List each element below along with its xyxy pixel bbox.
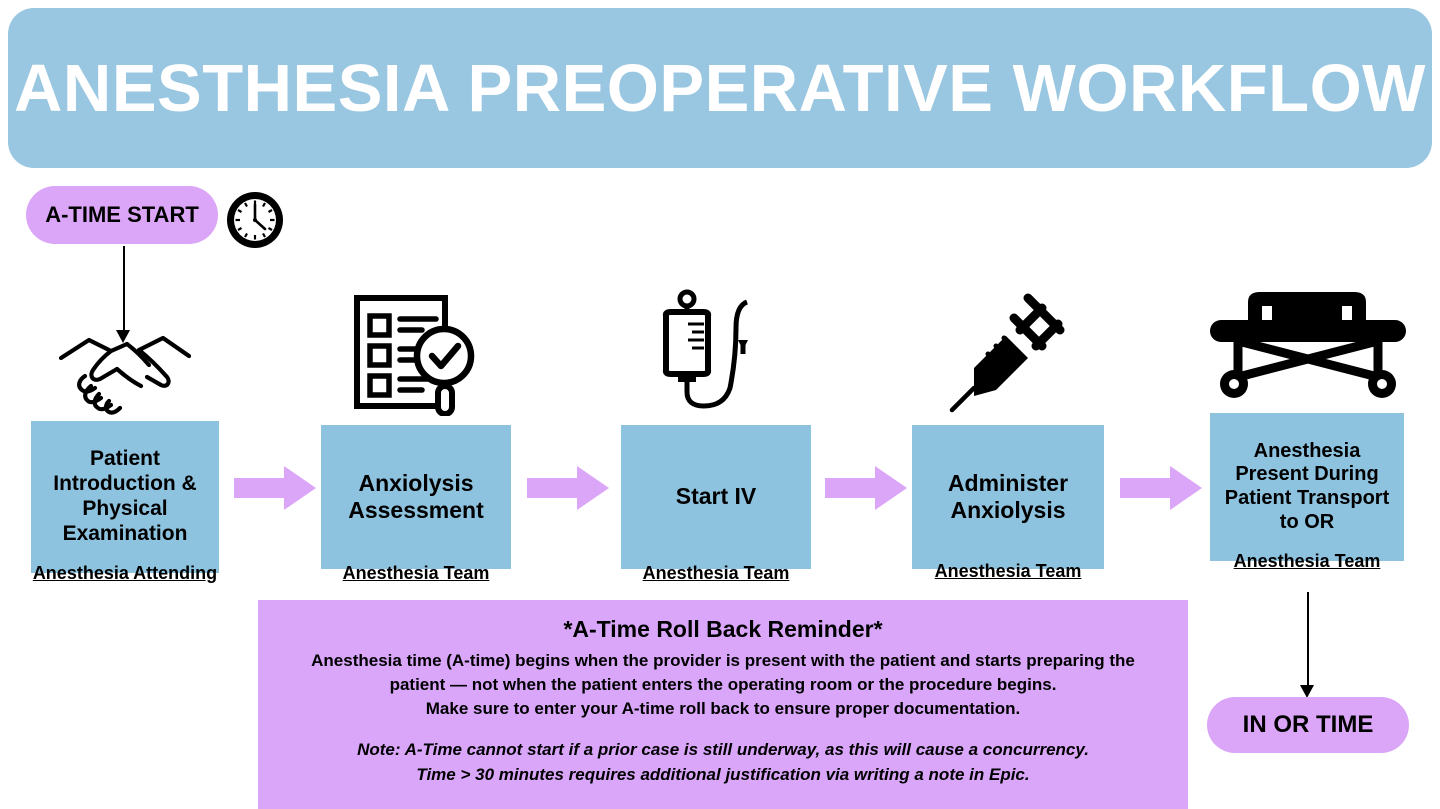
checklist-magnifier-icon: [348, 290, 488, 416]
step-box-2[interactable]: Anxiolysis Assessment: [321, 425, 511, 569]
clock-icon: [224, 189, 286, 251]
step-box-2-label: Anxiolysis Assessment: [327, 470, 505, 524]
step-owner-5: Anesthesia Team: [1210, 551, 1404, 572]
step-owner-2: Anesthesia Team: [321, 563, 511, 584]
step-box-1[interactable]: Patient Introduction & Physical Examinat…: [31, 421, 219, 573]
in-or-time-pill: IN OR TIME: [1207, 697, 1409, 753]
flow-arrow-3: [825, 466, 907, 510]
header-banner: ANESTHESIA PREOPERATIVE WORKFLOW: [8, 8, 1432, 168]
step-box-5[interactable]: Anesthesia Present During Patient Transp…: [1210, 413, 1404, 561]
reminder-panel: *A-Time Roll Back Reminder* Anesthesia t…: [258, 600, 1188, 809]
reminder-spacer: [276, 721, 1170, 738]
reminder-note-2: Time > 30 minutes requires additional ju…: [276, 763, 1170, 787]
flow-arrow-4: [1120, 466, 1202, 510]
step-box-4-label: Administer Anxiolysis: [918, 470, 1098, 524]
step-owner-4: Anesthesia Team: [912, 561, 1104, 582]
step-owner-3: Anesthesia Team: [621, 563, 811, 584]
reminder-note-1: Note: A-Time cannot start if a prior cas…: [276, 738, 1170, 762]
step-box-3-label: Start IV: [676, 483, 757, 510]
step-box-3[interactable]: Start IV: [621, 425, 811, 569]
gurney-icon: [1204, 284, 1412, 406]
step-box-4[interactable]: Administer Anxiolysis: [912, 425, 1104, 569]
workflow-diagram: ANESTHESIA PREOPERATIVE WORKFLOW A-TIME …: [0, 0, 1440, 809]
a-time-start-label: A-TIME START: [45, 202, 199, 228]
reminder-title: *A-Time Roll Back Reminder*: [276, 616, 1170, 643]
reminder-line-3: Make sure to enter your A-time roll back…: [276, 697, 1170, 721]
a-time-start-pill: A-TIME START: [26, 186, 218, 244]
step-box-5-label: Anesthesia Present During Patient Transp…: [1216, 440, 1398, 534]
iv-bag-icon: [652, 288, 780, 416]
flow-arrow-2: [527, 466, 609, 510]
reminder-line-2: patient — not when the patient enters th…: [276, 673, 1170, 697]
in-or-time-label: IN OR TIME: [1243, 711, 1374, 739]
step-box-1-label: Patient Introduction & Physical Examinat…: [37, 447, 213, 546]
handshake-icon: [55, 320, 195, 416]
reminder-line-1: Anesthesia time (A-time) begins when the…: [276, 649, 1170, 673]
page-title: ANESTHESIA PREOPERATIVE WORKFLOW: [14, 55, 1426, 122]
flow-arrow-1: [234, 466, 316, 510]
syringe-icon: [944, 284, 1074, 416]
step-owner-1: Anesthesia Attending: [19, 563, 231, 584]
end-arrow-line: [1307, 592, 1309, 687]
